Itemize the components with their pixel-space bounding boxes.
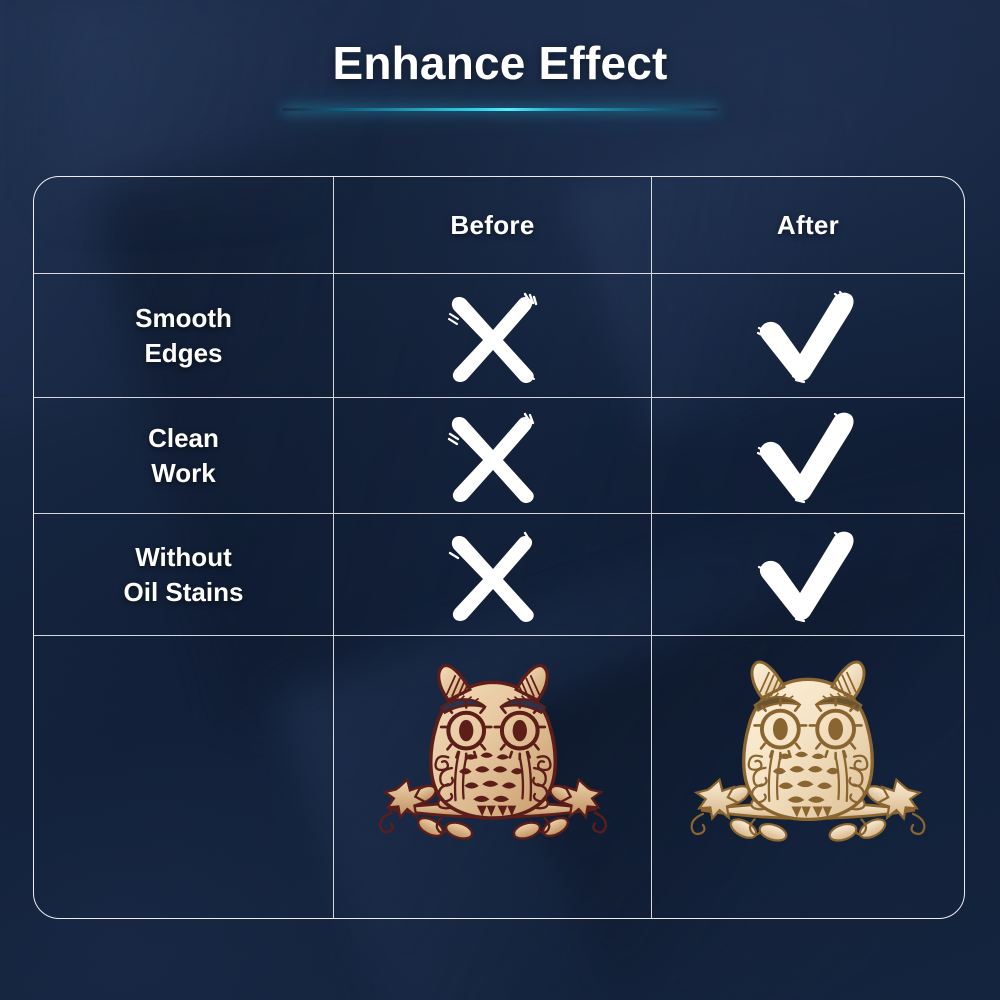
background-texture	[60, 0, 460, 200]
cell-after-owl	[652, 636, 964, 918]
owl-before-image	[359, 652, 627, 902]
cell-image-empty	[34, 636, 334, 918]
comparison-table: Before After Smooth Edges	[33, 176, 965, 919]
owl-after-image	[667, 648, 949, 906]
cell-before-smooth-edges	[334, 274, 652, 397]
table-image-row	[34, 636, 964, 918]
page-title-wrap: Enhance Effect	[0, 36, 1000, 90]
enhance-effect-page: Enhance Effect Before After Smooth Edges	[0, 0, 1000, 1000]
table-row: Smooth Edges	[34, 274, 964, 398]
header-label-before: Before	[450, 210, 534, 241]
title-underline-accent	[282, 108, 718, 111]
header-cell-feature	[34, 177, 334, 273]
cell-after-without-oil-stains	[652, 514, 964, 635]
row-label-cell: Clean Work	[34, 398, 334, 513]
cell-before-clean-work	[334, 398, 652, 513]
cell-before-owl	[334, 636, 652, 918]
header-label-after: After	[777, 210, 839, 241]
row-label-clean-work: Clean Work	[148, 421, 219, 490]
row-label-smooth-edges: Smooth Edges	[135, 301, 232, 370]
check-icon	[748, 408, 868, 504]
row-label-cell: Smooth Edges	[34, 274, 334, 397]
row-label-cell: Without Oil Stains	[34, 514, 334, 635]
table-row: Clean Work	[34, 398, 964, 514]
header-cell-before: Before	[334, 177, 652, 273]
table-row: Without Oil Stains	[34, 514, 964, 636]
page-title: Enhance Effect	[0, 36, 1000, 90]
check-icon	[748, 288, 868, 384]
table-header-row: Before After	[34, 177, 964, 274]
check-icon	[748, 527, 868, 623]
row-label-without-oil-stains: Without Oil Stains	[124, 540, 244, 609]
header-cell-after: After	[652, 177, 964, 273]
cell-before-without-oil-stains	[334, 514, 652, 635]
cross-icon	[433, 288, 553, 384]
cell-after-clean-work	[652, 398, 964, 513]
cross-icon	[433, 527, 553, 623]
cell-after-smooth-edges	[652, 274, 964, 397]
cross-icon	[433, 408, 553, 504]
